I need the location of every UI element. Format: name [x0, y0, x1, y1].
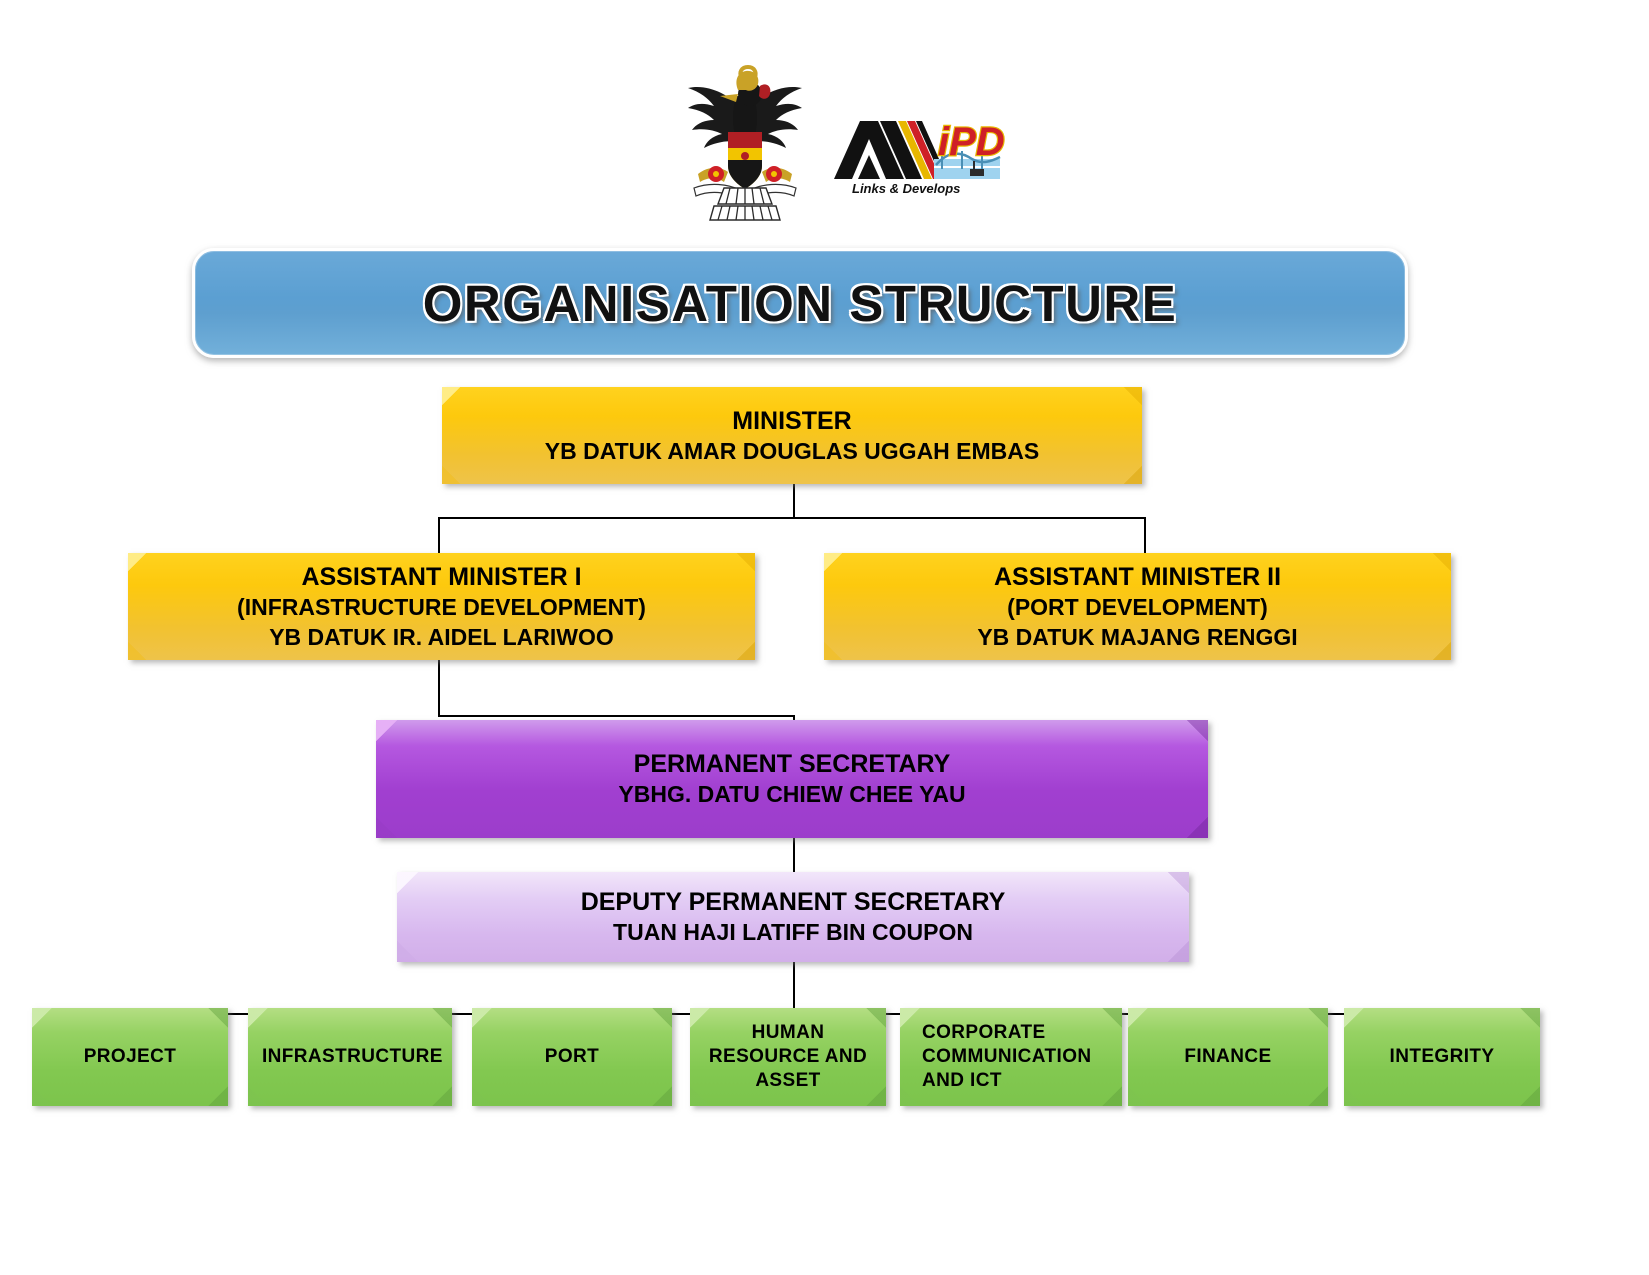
org-chart-page: iPD Links & Develops ORGANISATION STRUCT… [0, 0, 1649, 1275]
sarawak-coat-of-arms-icon [680, 62, 810, 222]
deputy-permanent-secretary-title: DEPUTY PERMANENT SECRETARY [411, 886, 1175, 918]
node-division-integrity[interactable]: INTEGRITY [1344, 1008, 1540, 1106]
connector-to-asst-1 [438, 517, 440, 555]
deputy-permanent-secretary-name: TUAN HAJI LATIFF BIN COUPON [411, 918, 1175, 947]
minister-title: MINISTER [456, 405, 1128, 437]
page-title-banner: ORGANISATION STRUCTURE [192, 248, 1408, 358]
division-label: INTEGRITY [1358, 1045, 1526, 1069]
minister-name: YB DATUK AMAR DOUGLAS UGGAH EMBAS [456, 437, 1128, 466]
assistant-minister-2-name: YB DATUK MAJANG RENGGI [838, 623, 1437, 652]
page-title: ORGANISATION STRUCTURE [423, 274, 1178, 333]
node-division-finance[interactable]: FINANCE [1128, 1008, 1328, 1106]
connector-deputy-to-bus [793, 962, 795, 1014]
connector-permsec-bus [438, 715, 794, 717]
node-division-human-resource-and-asset[interactable]: HUMAN RESOURCE AND ASSET [690, 1008, 886, 1106]
division-label: INFRASTRUCTURE [262, 1045, 438, 1069]
assistant-minister-2-portfolio: (PORT DEVELOPMENT) [838, 593, 1437, 622]
assistant-minister-2-title: ASSISTANT MINISTER II [838, 561, 1437, 593]
node-deputy-permanent-secretary[interactable]: DEPUTY PERMANENT SECRETARY TUAN HAJI LAT… [397, 872, 1189, 962]
connector-minister-down [793, 484, 795, 518]
node-permanent-secretary[interactable]: PERMANENT SECRETARY YBHG. DATU CHIEW CHE… [376, 720, 1208, 838]
division-label: CORPORATE COMMUNICATION AND ICT [922, 1021, 1108, 1094]
node-division-port[interactable]: PORT [472, 1008, 672, 1106]
assistant-minister-1-portfolio: (INFRASTRUCTURE DEVELOPMENT) [142, 593, 741, 622]
division-label: HUMAN RESOURCE AND ASSET [704, 1021, 872, 1094]
permanent-secretary-title: PERMANENT SECRETARY [390, 748, 1194, 780]
node-division-corporate-communication-and-ict[interactable]: CORPORATE COMMUNICATION AND ICT [900, 1008, 1122, 1106]
node-division-project[interactable]: PROJECT [32, 1008, 228, 1106]
assistant-minister-1-name: YB DATUK IR. AIDEL LARIWOO [142, 623, 741, 652]
division-label: PROJECT [46, 1045, 214, 1069]
node-minister[interactable]: MINISTER YB DATUK AMAR DOUGLAS UGGAH EMB… [442, 387, 1142, 484]
svg-text:Links & Develops: Links & Develops [852, 181, 960, 196]
ipd-logo-icon: iPD Links & Develops [830, 107, 1010, 197]
logo-row: iPD Links & Develops [670, 62, 1030, 227]
assistant-minister-1-title: ASSISTANT MINISTER I [142, 561, 741, 593]
division-label: PORT [486, 1045, 658, 1069]
node-assistant-minister-2[interactable]: ASSISTANT MINISTER II (PORT DEVELOPMENT)… [824, 553, 1451, 660]
node-assistant-minister-1[interactable]: ASSISTANT MINISTER I (INFRASTRUCTURE DEV… [128, 553, 755, 660]
node-division-infrastructure[interactable]: INFRASTRUCTURE [248, 1008, 452, 1106]
connector-ministers-bus [438, 517, 1146, 519]
permanent-secretary-name: YBHG. DATU CHIEW CHEE YAU [390, 780, 1194, 809]
division-label: FINANCE [1142, 1045, 1314, 1069]
connector-asst1-down [438, 660, 440, 716]
svg-text:iPD: iPD [938, 120, 1005, 164]
connector-to-asst-2 [1144, 517, 1146, 555]
